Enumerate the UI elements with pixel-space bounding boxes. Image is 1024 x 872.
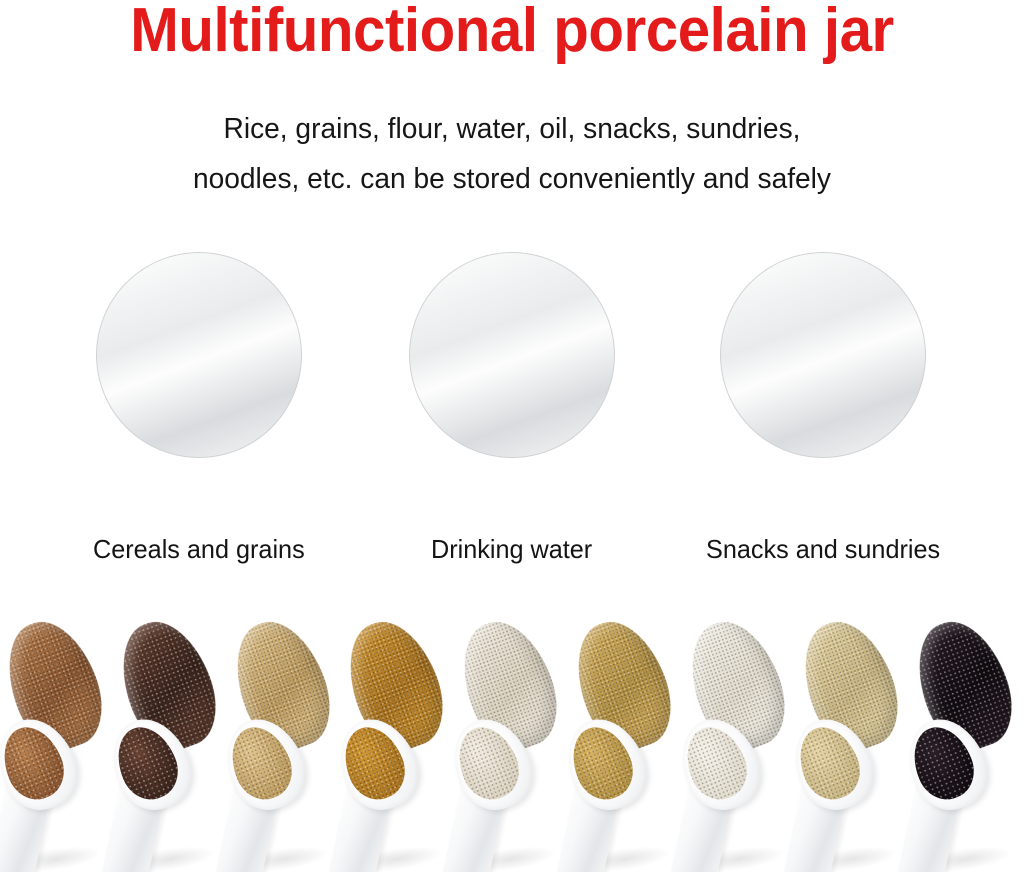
- grain-spoon-row: [0, 614, 1024, 872]
- feature-image-water: [409, 252, 615, 458]
- page-title: Multifunctional porcelain jar: [31, 0, 994, 65]
- snack-chocolate-truffle: [825, 315, 851, 341]
- grain-spoon: [0, 614, 120, 872]
- grain-spoon: [333, 614, 461, 872]
- subtitle-line-2: noodles, etc. can be stored conveniently…: [15, 154, 1008, 204]
- caption-snacks: Snacks and sundries: [706, 534, 940, 565]
- water-surface: [416, 259, 608, 451]
- snack-jelly-bean: [744, 410, 755, 419]
- grain-spoon: [106, 614, 234, 872]
- grain-swatch-grid: [103, 259, 295, 451]
- grain-spoon: [788, 614, 916, 872]
- snack-jelly-bean: [741, 395, 750, 402]
- assorted-snacks: [727, 259, 919, 451]
- grain-cell-corn-kernel-gold: [244, 372, 295, 451]
- water-splash: [416, 359, 608, 451]
- water-photo: [416, 259, 608, 451]
- page-subtitle: Rice, grains, flour, water, oil, snacks,…: [15, 104, 1008, 204]
- snack-chocolate-truffle: [753, 333, 791, 371]
- snack-hard-candy: [747, 269, 777, 297]
- snack-jelly-bean: [739, 379, 750, 387]
- product-infographic: Multifunctional porcelain jar Rice, grai…: [0, 0, 1024, 872]
- snack-jelly-bean: [780, 408, 789, 415]
- snack-jelly-bean: [762, 405, 773, 414]
- cereals-photo: [103, 259, 295, 451]
- snack-hard-candy: [771, 273, 809, 307]
- grain-cell-red-beans-brown: [244, 259, 295, 312]
- snack-jelly-bean: [766, 444, 775, 451]
- snack-jelly-bean: [734, 449, 742, 451]
- grain-cell-corn-meal-yellow: [103, 259, 158, 312]
- grain-cell-wheat-brown: [160, 372, 242, 451]
- feature-caption-row: Cereals and grains Drinking water Snacks…: [0, 534, 1024, 580]
- subtitle-line-1: Rice, grains, flour, water, oil, snacks,…: [15, 104, 1008, 154]
- snack-jelly-bean: [755, 419, 766, 428]
- snack-jelly-bean: [729, 407, 737, 413]
- grain-cell-white-rice: [103, 314, 158, 370]
- snack-jelly-bean: [791, 433, 801, 441]
- snack-wafer-roll: [887, 411, 917, 441]
- snack-jelly-bean: [771, 426, 779, 433]
- feature-image-cereals: [96, 252, 302, 458]
- grain-cell-brown-sugar-rice: [103, 372, 158, 451]
- caption-cereals: Cereals and grains: [93, 534, 305, 565]
- water-droplet-icon: [509, 322, 516, 331]
- snack-wafer-roll: [865, 379, 899, 413]
- snack-chocolate-truffle: [835, 359, 869, 393]
- grain-cell-millet-beige: [160, 259, 242, 312]
- caption-water: Drinking water: [431, 534, 592, 565]
- grain-spoon: [447, 614, 575, 872]
- snacks-photo: [727, 259, 919, 451]
- feature-image-row: [0, 252, 1024, 502]
- snack-wafer-roll: [855, 419, 881, 445]
- snack-jelly-bean: [750, 427, 758, 433]
- grain-spoon: [902, 614, 1024, 872]
- grain-spoon: [675, 614, 803, 872]
- water-droplet-icon: [510, 305, 515, 312]
- snack-jelly-bean: [787, 417, 795, 423]
- snack-chocolate-truffle: [787, 345, 817, 375]
- grain-cell-mung-beans-green: [160, 314, 242, 370]
- feature-image-snacks: [720, 252, 926, 458]
- grain-spoon: [220, 614, 348, 872]
- grain-spoon: [561, 614, 689, 872]
- grain-cell-oat-cream: [244, 314, 295, 370]
